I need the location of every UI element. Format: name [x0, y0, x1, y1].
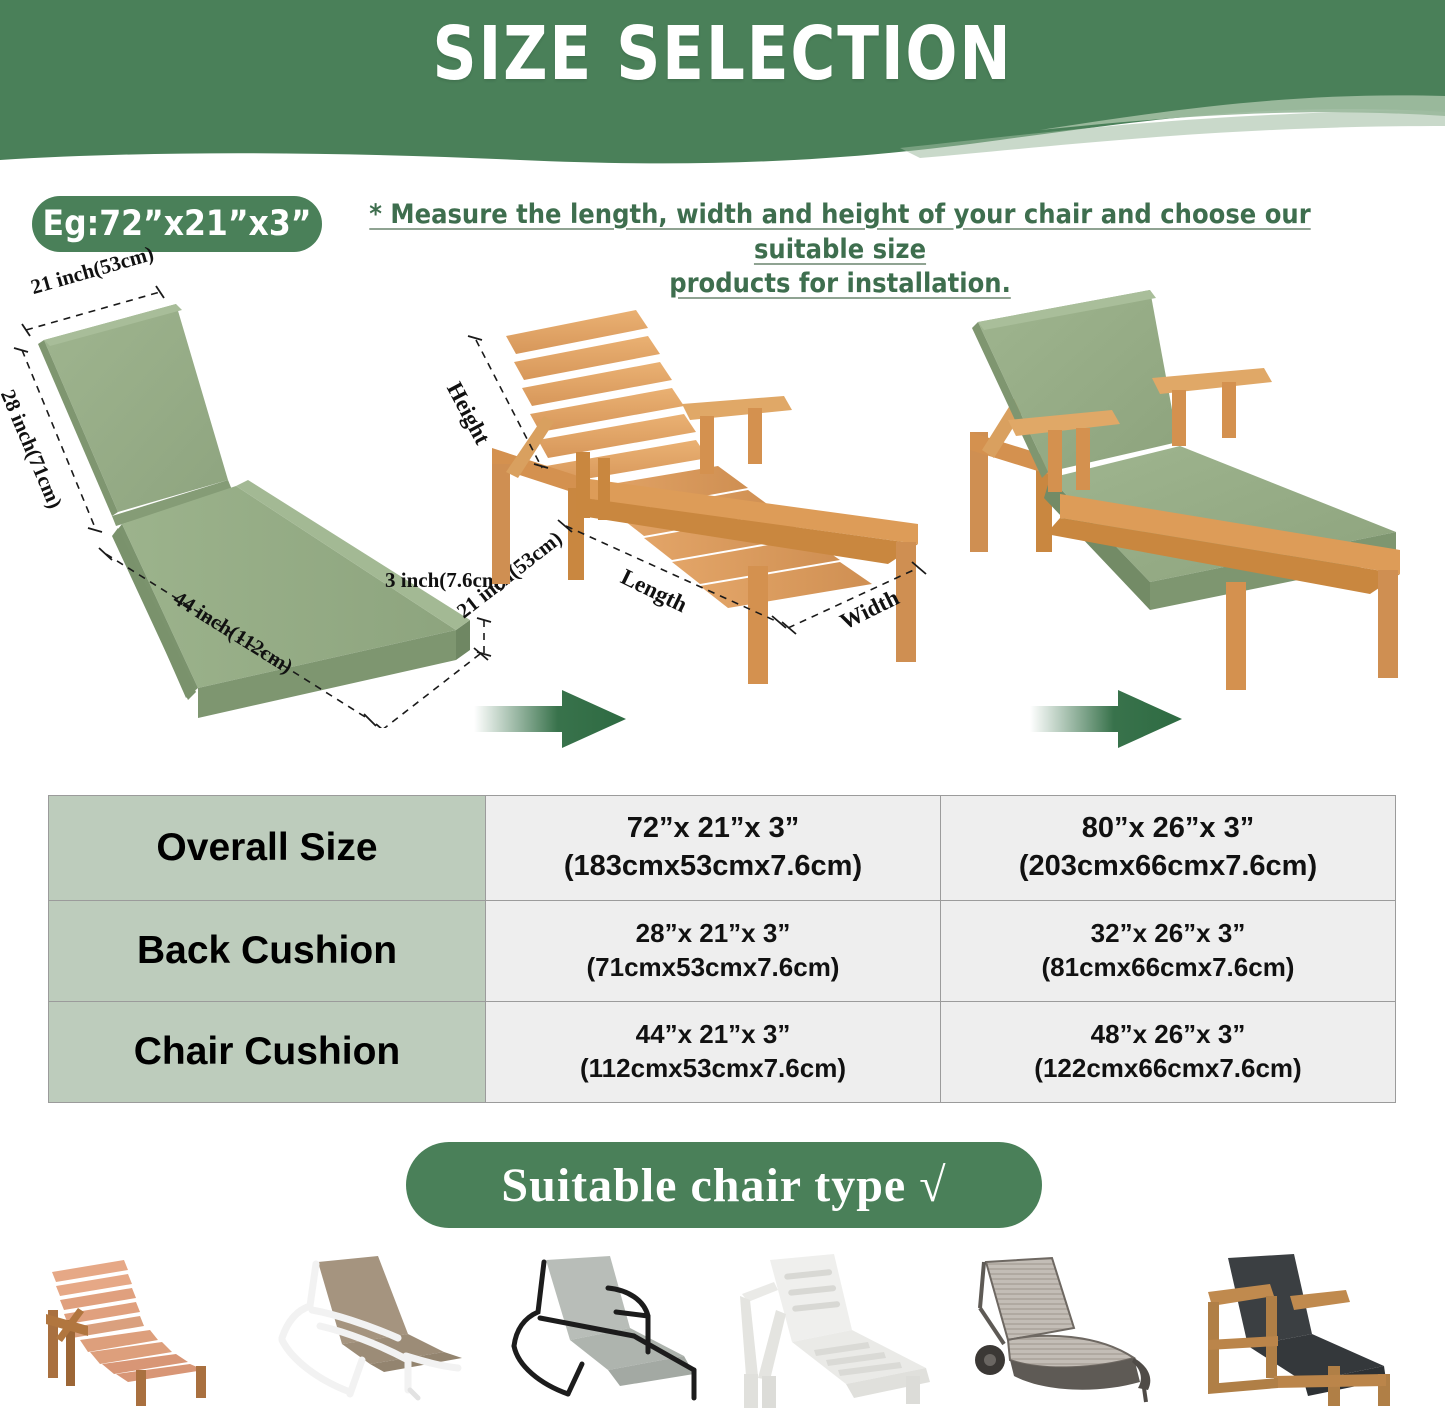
- bare-chair-illustration: [448, 292, 948, 712]
- size-table: Overall Size 72”x 21”x 3” (183cmx53cmx7.…: [48, 795, 1396, 1103]
- cushioned-chair-illustration: [930, 282, 1430, 702]
- cell-chair-cushion-option-a: 44”x 21”x 3” (112cmx53cmx7.6cm): [486, 1002, 941, 1103]
- value-cm: (81cmx66cmx7.6cm): [941, 951, 1395, 985]
- value-inch: 72”x 21”x 3”: [486, 810, 940, 848]
- cell-overall-size-option-b: 80”x 26”x 3” (203cmx66cmx7.6cm): [941, 796, 1396, 901]
- table-row: Chair Cushion 44”x 21”x 3” (112cmx53cmx7…: [49, 1002, 1396, 1103]
- table-row: Back Cushion 28”x 21”x 3” (71cmx53cmx7.6…: [49, 901, 1396, 1002]
- cell-back-cushion-option-b: 32”x 26”x 3” (81cmx66cmx7.6cm): [941, 901, 1396, 1002]
- white-frame-sling-lounger-thumb: [258, 1248, 498, 1414]
- suitable-chair-type-banner: Suitable chair type √: [406, 1142, 1042, 1228]
- rattan-wheeled-lounger-thumb: [948, 1248, 1188, 1414]
- value-inch: 48”x 26”x 3”: [941, 1018, 1395, 1052]
- row-label-back-cushion: Back Cushion: [49, 901, 486, 1002]
- page-header: SIZE SELECTION: [0, 0, 1445, 180]
- cell-overall-size-option-a: 72”x 21”x 3” (183cmx53cmx7.6cm): [486, 796, 941, 901]
- chair-thumbnail-strip: [0, 1248, 1445, 1414]
- table-row: Overall Size 72”x 21”x 3” (183cmx53cmx7.…: [49, 796, 1396, 901]
- wood-arm-dark-sling-lounger-thumb: [1178, 1248, 1418, 1414]
- black-frame-sling-lounger-thumb: [488, 1248, 728, 1414]
- value-cm: (203cmx66cmx7.6cm): [941, 848, 1395, 886]
- cell-back-cushion-option-a: 28”x 21”x 3” (71cmx53cmx7.6cm): [486, 901, 941, 1002]
- value-cm: (122cmx66cmx7.6cm): [941, 1052, 1395, 1086]
- page-title: SIZE SELECTION: [58, 16, 1387, 94]
- value-inch: 32”x 26”x 3”: [941, 917, 1395, 951]
- cushioned-chair-diagram: [930, 282, 1430, 702]
- value-inch: 44”x 21”x 3”: [486, 1018, 940, 1052]
- wood-slat-lounger-thumb: [28, 1248, 268, 1414]
- white-plastic-lounger-thumb: [718, 1248, 958, 1414]
- value-cm: (183cmx53cmx7.6cm): [486, 848, 940, 886]
- value-inch: 28”x 21”x 3”: [486, 917, 940, 951]
- measure-instruction-line1: * Measure the length, width and height o…: [369, 199, 1310, 265]
- diagram-row: 21 inch(53cm) 28 inch(71cm) 44 inch(112c…: [0, 268, 1445, 768]
- value-cm: (112cmx53cmx7.6cm): [486, 1052, 940, 1086]
- value-cm: (71cmx53cmx7.6cm): [486, 951, 940, 985]
- row-label-overall-size: Overall Size: [49, 796, 486, 901]
- example-size-badge: Eg:72”x21”x3”: [32, 196, 322, 252]
- cell-chair-cushion-option-b: 48”x 26”x 3” (122cmx66cmx7.6cm): [941, 1002, 1396, 1103]
- bare-chair-diagram: Height Length Width: [448, 292, 948, 712]
- value-inch: 80”x 26”x 3”: [941, 810, 1395, 848]
- row-label-chair-cushion: Chair Cushion: [49, 1002, 486, 1103]
